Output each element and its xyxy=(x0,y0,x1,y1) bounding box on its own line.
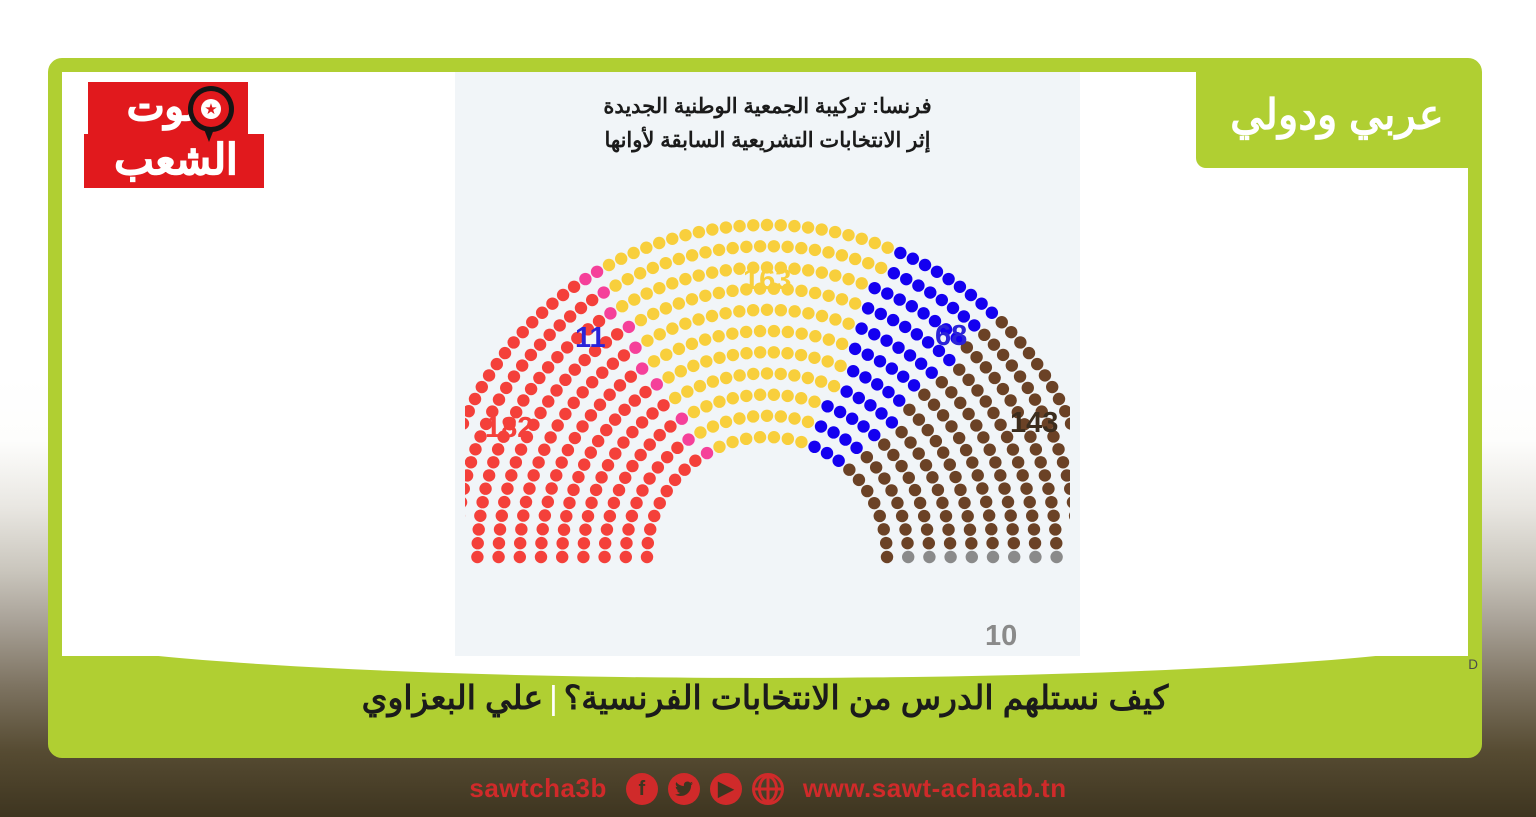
seat-dot xyxy=(911,328,923,340)
seat-dot xyxy=(686,293,698,305)
seat-dot xyxy=(895,460,907,472)
seat-dot xyxy=(913,413,925,425)
seat-dot xyxy=(740,347,752,359)
seat-dot xyxy=(922,424,934,436)
seat-dot xyxy=(958,497,970,509)
seat-dot xyxy=(775,304,787,316)
hemicycle-seat-chart: 182 11 163 68 143 10 xyxy=(465,172,1070,642)
flag-star-icon: ★ xyxy=(204,102,217,117)
seat-dot xyxy=(654,429,666,441)
seat-dot xyxy=(569,363,581,375)
seat-dot xyxy=(874,510,886,522)
seat-dot xyxy=(842,273,854,285)
seat-dot xyxy=(881,551,893,563)
seat-dot xyxy=(727,392,739,404)
caption-author: علي البعزاوي xyxy=(362,679,544,716)
seat-dot xyxy=(795,242,807,254)
seat-dot xyxy=(713,441,725,453)
seat-dot xyxy=(720,221,732,233)
seat-dot xyxy=(510,456,522,468)
seat-dot xyxy=(816,310,828,322)
seat-dot xyxy=(836,249,848,261)
seat-dot xyxy=(894,247,906,259)
seat-dot xyxy=(862,348,874,360)
seat-dot xyxy=(914,497,926,509)
seat-dot xyxy=(1065,417,1070,429)
seat-dot xyxy=(578,354,590,366)
seat-dot xyxy=(788,220,800,232)
seat-dot xyxy=(886,362,898,374)
seat-dot xyxy=(936,376,948,388)
seat-dot xyxy=(634,267,646,279)
seat-dot xyxy=(602,459,614,471)
seat-dot xyxy=(525,383,537,395)
seat-dot xyxy=(868,282,880,294)
seat-dot xyxy=(647,262,659,274)
seat-dot xyxy=(471,551,483,563)
seat-dot xyxy=(699,246,711,258)
seat-dot xyxy=(864,399,876,411)
seat-dot xyxy=(795,327,807,339)
seat-dot xyxy=(868,497,880,509)
seat-dot xyxy=(660,257,672,269)
seat-dot xyxy=(747,219,759,231)
seat-dot xyxy=(775,368,787,380)
seat-dot xyxy=(954,281,966,293)
seat-dot xyxy=(908,379,920,391)
sawt-achaab-logo[interactable]: صوت الشعب ★ xyxy=(84,78,270,194)
seat-dot xyxy=(875,407,887,419)
seat-dot xyxy=(733,412,745,424)
seat-dot xyxy=(822,290,834,302)
seat-dot xyxy=(871,378,883,390)
seat-dot xyxy=(671,442,683,454)
seat-dot xyxy=(585,497,597,509)
seat-dot xyxy=(932,484,944,496)
seat-dot xyxy=(662,371,674,383)
seat-dot xyxy=(679,273,691,285)
seat-dot xyxy=(899,321,911,333)
seat-dot xyxy=(997,349,1009,361)
seat-dot xyxy=(465,405,475,417)
seat-dot xyxy=(1034,456,1046,468)
seat-dot xyxy=(558,524,570,536)
seat-dot xyxy=(501,482,513,494)
seat-dot xyxy=(1005,509,1017,521)
seat-dot xyxy=(1002,496,1014,508)
seat-dot xyxy=(699,290,711,302)
seat-dot xyxy=(1014,370,1026,382)
seat-dot xyxy=(962,374,974,386)
category-badge-label: عربي ودولي xyxy=(1230,94,1444,136)
seat-dot xyxy=(543,329,555,341)
seat-dot xyxy=(598,551,610,563)
seat-dot xyxy=(740,326,752,338)
seat-dot xyxy=(646,407,658,419)
seat-dot xyxy=(795,349,807,361)
seat-dot xyxy=(891,497,903,509)
seat-dot xyxy=(808,352,820,364)
seat-dot xyxy=(465,417,469,429)
seat-dot xyxy=(648,355,660,367)
seat-dot xyxy=(615,253,627,265)
seat-dot xyxy=(626,460,638,472)
seat-dot xyxy=(880,537,892,549)
seat-dot xyxy=(706,223,718,235)
seat-dot xyxy=(880,334,892,346)
seat-dot xyxy=(713,287,725,299)
seat-dot xyxy=(556,537,568,549)
seat-dot xyxy=(853,474,865,486)
seat-dot xyxy=(536,307,548,319)
seat-dot xyxy=(557,289,569,301)
seat-dot xyxy=(962,408,974,420)
seat-dot xyxy=(465,469,473,481)
seat-dot xyxy=(861,451,873,463)
seat-dot xyxy=(808,441,820,453)
caption-separator: | xyxy=(543,679,564,716)
seat-dot xyxy=(653,237,665,249)
seat-dot xyxy=(1031,358,1043,370)
seat-dot xyxy=(802,307,814,319)
seat-dot xyxy=(965,289,977,301)
seat-dot xyxy=(726,242,738,254)
seat-dot xyxy=(926,471,938,483)
seat-dot xyxy=(611,328,623,340)
seat-dot xyxy=(627,247,639,259)
seat-dot xyxy=(953,432,965,444)
seat-dot xyxy=(678,464,690,476)
seat-dot xyxy=(909,484,921,496)
seat-dot xyxy=(970,351,982,363)
flag-disc: ★ xyxy=(193,91,229,127)
seat-dot xyxy=(535,537,547,549)
seat-dot xyxy=(701,447,713,459)
seat-dot xyxy=(944,551,956,563)
seat-dot xyxy=(545,482,557,494)
seat-dot xyxy=(673,253,685,265)
seat-dot xyxy=(878,438,890,450)
seat-dot xyxy=(487,456,499,468)
seat-dot xyxy=(579,523,591,535)
seat-dot xyxy=(997,383,1009,395)
seat-dot xyxy=(542,361,554,373)
seat-dot xyxy=(618,349,630,361)
seat-dot xyxy=(881,287,893,299)
seat-dot xyxy=(821,447,833,459)
seat-dot xyxy=(875,308,887,320)
caption-text: كيف نستلهم الدرس من الانتخابات الفرنسية؟… xyxy=(62,678,1468,717)
seat-dot xyxy=(970,419,982,431)
seat-dot xyxy=(675,365,687,377)
seat-dot xyxy=(906,300,918,312)
seat-dot xyxy=(754,431,766,443)
seat-dot xyxy=(987,551,999,563)
seat-dot xyxy=(903,472,915,484)
seat-dot xyxy=(622,523,634,535)
seat-dot xyxy=(945,420,957,432)
seat-dot xyxy=(556,551,568,563)
seat-dot xyxy=(630,497,642,509)
seat-dot xyxy=(954,397,966,409)
seat-dot xyxy=(966,456,978,468)
seat-dot xyxy=(821,355,833,367)
seat-dot xyxy=(688,406,700,418)
seat-dot xyxy=(1042,483,1054,495)
seat-dot xyxy=(733,220,745,232)
seat-dot xyxy=(534,407,546,419)
seat-dot xyxy=(586,376,598,388)
seat-dot xyxy=(694,426,706,438)
youtube-icon[interactable]: ▶ xyxy=(710,773,742,805)
seat-dot xyxy=(878,523,890,535)
seat-dot xyxy=(598,286,610,298)
seat-dot xyxy=(1022,382,1034,394)
seat-dot xyxy=(535,551,547,563)
seat-dot xyxy=(620,537,632,549)
seat-dot xyxy=(816,266,828,278)
seat-dot xyxy=(544,431,556,443)
seat-dot xyxy=(700,400,712,412)
seat-dot xyxy=(654,328,666,340)
seat-dot xyxy=(515,443,527,455)
seat-dot xyxy=(972,469,984,481)
seat-dot xyxy=(821,400,833,412)
seat-dot xyxy=(619,472,631,484)
seat-dot xyxy=(928,399,940,411)
seat-dot xyxy=(726,285,738,297)
seat-dot xyxy=(986,537,998,549)
seat-dot xyxy=(618,404,630,416)
seat-dot xyxy=(1012,456,1024,468)
tunisia-flag-icon: ★ xyxy=(188,86,234,132)
seat-dot xyxy=(920,459,932,471)
seat-dot xyxy=(887,449,899,461)
seat-dot xyxy=(577,551,589,563)
seat-dot xyxy=(1023,347,1035,359)
seat-dot xyxy=(768,240,780,252)
seat-dot xyxy=(1046,381,1058,393)
seat-dot xyxy=(505,469,517,481)
seat-dot xyxy=(862,302,874,314)
seat-dot xyxy=(985,523,997,535)
seat-dot xyxy=(629,341,641,353)
seat-dot xyxy=(676,413,688,425)
seat-dot xyxy=(881,242,893,254)
seat-dot xyxy=(754,325,766,337)
globe-icon[interactable] xyxy=(752,773,784,805)
seat-dot xyxy=(554,319,566,331)
seat-dot xyxy=(788,412,800,424)
seat-dot xyxy=(713,396,725,408)
seat-dot xyxy=(623,321,635,333)
seat-dot xyxy=(661,485,673,497)
seat-dot xyxy=(578,458,590,470)
caption-curve-decoration xyxy=(62,656,1468,678)
seat-dot xyxy=(875,262,887,274)
seat-dot xyxy=(870,461,882,473)
seat-dot xyxy=(664,420,676,432)
seat-dot xyxy=(913,447,925,459)
seat-dot xyxy=(1059,405,1070,417)
seat-dot xyxy=(679,229,691,241)
seat-dot xyxy=(666,233,678,245)
seat-dot xyxy=(740,241,752,253)
seat-dot xyxy=(563,497,575,509)
seat-dot xyxy=(1006,359,1018,371)
seat-dot xyxy=(853,392,865,404)
seat-dot xyxy=(679,317,691,329)
seat-dot xyxy=(849,343,861,355)
seat-dot xyxy=(761,304,773,316)
seat-dot xyxy=(795,392,807,404)
seat-dot xyxy=(964,524,976,536)
twitter-icon[interactable] xyxy=(668,773,700,805)
seat-dot xyxy=(608,497,620,509)
seat-dot xyxy=(943,354,955,366)
seat-dot xyxy=(1026,510,1038,522)
seat-dot xyxy=(661,451,673,463)
seat-dot xyxy=(949,471,961,483)
facebook-icon[interactable]: f xyxy=(626,773,658,805)
seat-dot xyxy=(988,338,1000,350)
seat-dot xyxy=(620,551,632,563)
seat-dot xyxy=(551,351,563,363)
seat-dot xyxy=(945,386,957,398)
seat-dot xyxy=(976,482,988,494)
seat-dot xyxy=(474,510,486,522)
seat-dot xyxy=(591,266,603,278)
seat-dot xyxy=(1039,369,1051,381)
seat-dot xyxy=(1067,496,1070,508)
seat-dot xyxy=(604,307,616,319)
seat-dot xyxy=(641,334,653,346)
seat-dot xyxy=(788,305,800,317)
seat-dot xyxy=(568,281,580,293)
seat-dot xyxy=(1047,510,1059,522)
seat-dot xyxy=(720,416,732,428)
seat-dot xyxy=(493,393,505,405)
seat-dot xyxy=(526,316,538,328)
seat-dot xyxy=(689,455,701,467)
seat-dot xyxy=(500,382,512,394)
seat-dot xyxy=(900,273,912,285)
seat-dot xyxy=(856,277,868,289)
seat-dot xyxy=(894,293,906,305)
seat-dot xyxy=(942,523,954,535)
seat-count-ensemble: 163 xyxy=(743,264,791,297)
seat-dot xyxy=(569,432,581,444)
seat-dot xyxy=(640,242,652,254)
seat-dot xyxy=(576,386,588,398)
seat-dot xyxy=(551,419,563,431)
seat-dot xyxy=(507,336,519,348)
seat-dot xyxy=(971,384,983,396)
seat-dot xyxy=(888,267,900,279)
seat-dot xyxy=(578,537,590,549)
seat-dot xyxy=(802,416,814,428)
seat-dot xyxy=(747,304,759,316)
seat-dot xyxy=(842,317,854,329)
seat-dot xyxy=(895,426,907,438)
seat-dot xyxy=(802,372,814,384)
seat-dot xyxy=(585,446,597,458)
seat-dot xyxy=(885,484,897,496)
seat-dot xyxy=(469,443,481,455)
seat-dot xyxy=(628,293,640,305)
seat-dot xyxy=(643,472,655,484)
seat-dot xyxy=(550,384,562,396)
seat-dot xyxy=(926,366,938,378)
seat-dot xyxy=(546,297,558,309)
seat-dot xyxy=(832,455,844,467)
seat-dot xyxy=(998,482,1010,494)
seat-dot xyxy=(1053,393,1065,405)
seat-dot xyxy=(669,392,681,404)
seat-dot xyxy=(878,472,890,484)
seat-dot xyxy=(491,358,503,370)
seat-dot xyxy=(944,458,956,470)
seat-dot xyxy=(1064,483,1070,495)
seat-dot xyxy=(651,378,663,390)
seat-dot xyxy=(726,436,738,448)
seat-dot xyxy=(494,523,506,535)
seat-dot xyxy=(768,325,780,337)
seat-dot xyxy=(654,497,666,509)
seat-count-autres: 10 xyxy=(985,620,1017,653)
seat-dot xyxy=(754,346,766,358)
seat-dot xyxy=(699,333,711,345)
seat-dot xyxy=(966,551,978,563)
seat-dot xyxy=(596,366,608,378)
seat-dot xyxy=(534,338,546,350)
seat-dot xyxy=(936,497,948,509)
seat-dot xyxy=(1016,469,1028,481)
seat-dot xyxy=(924,286,936,298)
seat-dot xyxy=(849,297,861,309)
seat-dot xyxy=(520,496,532,508)
seat-dot xyxy=(904,436,916,448)
poster-canvas: صوت الشعب ★ عربي ودولي فرنسا: تركيبة الج… xyxy=(0,0,1536,817)
seat-dot xyxy=(965,537,977,549)
seat-dot xyxy=(843,464,855,476)
seat-dot xyxy=(617,436,629,448)
seat-dot xyxy=(642,537,654,549)
seat-dot xyxy=(514,551,526,563)
category-badge[interactable]: عربي ودولي xyxy=(1196,62,1478,168)
seat-dot xyxy=(607,358,619,370)
seat-dot xyxy=(609,279,621,291)
seat-dot xyxy=(896,510,908,522)
seat-dot xyxy=(996,316,1008,328)
seat-dot xyxy=(983,509,995,521)
seat-dot xyxy=(590,484,602,496)
seat-dot xyxy=(622,273,634,285)
seat-dot xyxy=(1008,537,1020,549)
seat-dot xyxy=(923,551,935,563)
seat-dot xyxy=(595,471,607,483)
seat-dot xyxy=(754,389,766,401)
seat-dot xyxy=(980,361,992,373)
seat-dot xyxy=(923,537,935,549)
seat-dot xyxy=(647,308,659,320)
seat-dot xyxy=(537,523,549,535)
caption-bar: كيف نستلهم الدرس من الانتخابات الفرنسية؟… xyxy=(62,656,1468,754)
seat-dot xyxy=(977,431,989,443)
seat-dot xyxy=(579,273,591,285)
seat-dot xyxy=(648,510,660,522)
seat-dot xyxy=(989,456,1001,468)
